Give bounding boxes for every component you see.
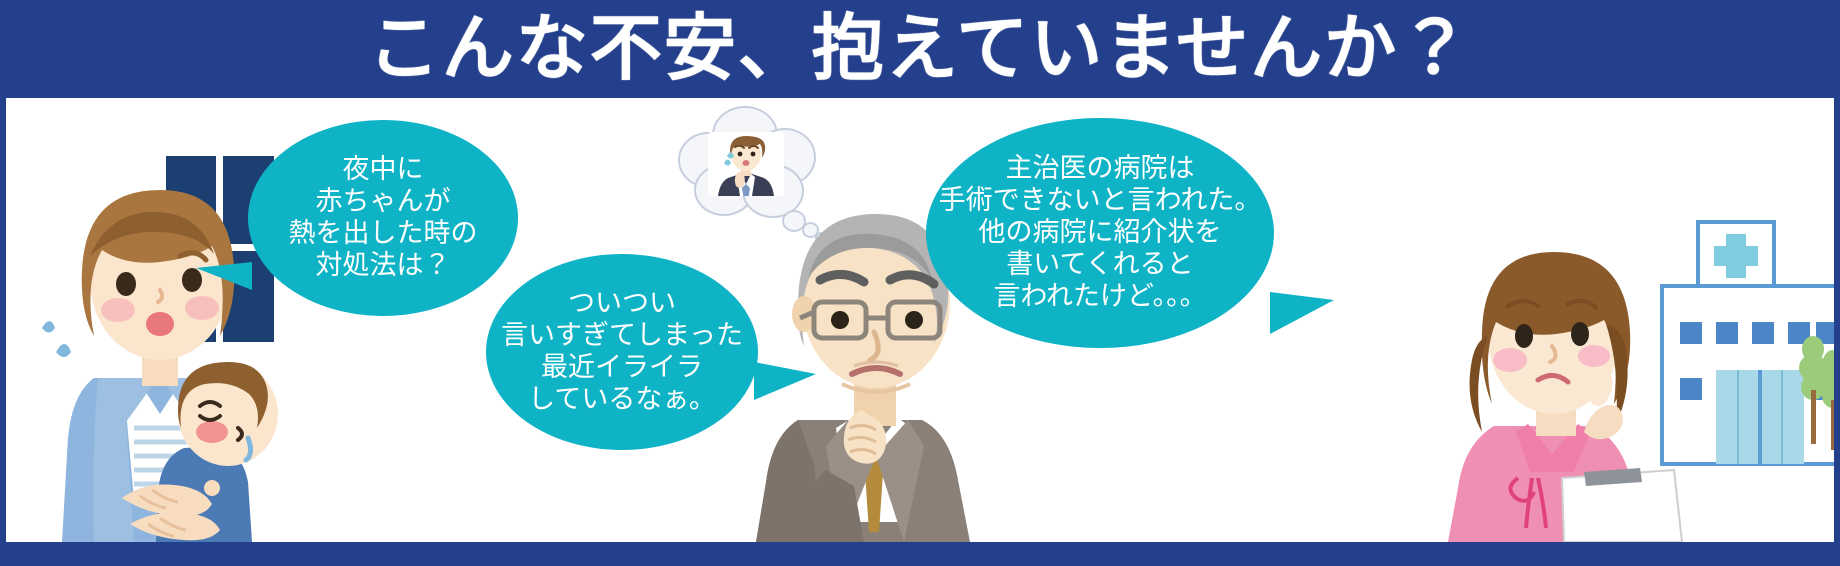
page-title: こんな不安、抱えていませんか？ bbox=[368, 13, 1472, 85]
bubble-line: 対処法は？ bbox=[316, 250, 451, 282]
bubble-line: しているなぁ。 bbox=[528, 384, 716, 416]
bubble-line: 言われたけど。。。 bbox=[993, 281, 1206, 313]
bubble-line: 他の病院に紹介状を bbox=[979, 217, 1222, 249]
sweat-drops-icon bbox=[42, 321, 71, 357]
tree-right bbox=[1818, 350, 1834, 454]
bubble-line: ついつい bbox=[568, 288, 676, 320]
mother-with-baby-illustration bbox=[34, 128, 284, 542]
bubble-line: 主治医の病院は bbox=[1006, 153, 1195, 185]
bubble-line: 言いすぎてしまった bbox=[501, 320, 743, 352]
bubble-tail-left bbox=[196, 262, 252, 290]
speech-bubble-mother[interactable]: 夜中に 赤ちゃんが 熱を出した時の 対処法は？ bbox=[248, 120, 518, 316]
speech-bubble-woman[interactable]: 主治医の病院は 手術できないと言われた。 他の病院に紹介状を 書いてくれると 言… bbox=[926, 118, 1274, 348]
clipboard-icon bbox=[1562, 468, 1682, 542]
banner-root: こんな不安、抱えていませんか？ bbox=[0, 0, 1840, 566]
thinking-woman-illustration bbox=[1434, 228, 1694, 542]
bubble-line: 熱を出した時の bbox=[289, 218, 478, 250]
tree-trunk bbox=[1811, 390, 1816, 444]
bubble-line: 赤ちゃんが bbox=[316, 186, 451, 218]
bubble-line: 最近イライラ bbox=[541, 352, 703, 384]
illustration-stage: 夜中に 赤ちゃんが 熱を出した時の 対処法は？ ついつい 言いすぎてしまった 最… bbox=[6, 98, 1834, 542]
tree-trunk bbox=[1831, 400, 1834, 450]
header-bar: こんな不安、抱えていませんか？ bbox=[0, 0, 1840, 98]
bubble-line: 書いてくれると bbox=[1006, 249, 1193, 281]
speech-bubble-elderly-man[interactable]: ついつい 言いすぎてしまった 最近イライラ しているなぁ。 bbox=[486, 254, 758, 450]
bubble-tail-right bbox=[1270, 292, 1334, 334]
bubble-line: 夜中に bbox=[343, 154, 424, 186]
bubble-line: 手術できないと言われた。 bbox=[939, 185, 1262, 217]
